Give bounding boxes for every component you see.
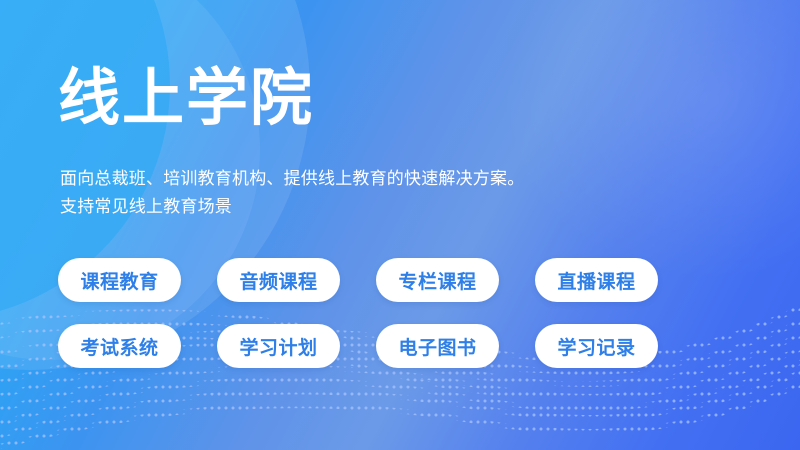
page-title: 线上学院: [58, 62, 314, 136]
feature-tag-live-course[interactable]: 直播课程: [535, 258, 658, 302]
feature-tag-ebook[interactable]: 电子图书: [376, 324, 499, 368]
feature-tag-study-record[interactable]: 学习记录: [535, 324, 658, 368]
feature-tag-audio-course[interactable]: 音频课程: [217, 258, 340, 302]
banner-subtitle-line-1: 面向总裁班、培训教育机构、提供线上教育的快速解决方案。: [60, 166, 524, 192]
feature-tag-study-plan[interactable]: 学习计划: [217, 324, 340, 368]
banner-subtitle-line-2: 支持常见线上教育场景: [60, 194, 232, 220]
feature-tag-column-course[interactable]: 专栏课程: [376, 258, 499, 302]
feature-tag-exam-system[interactable]: 考试系统: [58, 324, 181, 368]
banner-content: 线上学院 面向总裁班、培训教育机构、提供线上教育的快速解决方案。 支持常见线上教…: [58, 0, 758, 450]
online-academy-banner: 线上学院 面向总裁班、培训教育机构、提供线上教育的快速解决方案。 支持常见线上教…: [0, 0, 800, 450]
feature-tag-grid: 课程教育 音频课程 专栏课程 直播课程 考试系统 学习计划 电子图书 学习记录: [58, 258, 658, 368]
feature-tag-course-education[interactable]: 课程教育: [58, 258, 181, 302]
